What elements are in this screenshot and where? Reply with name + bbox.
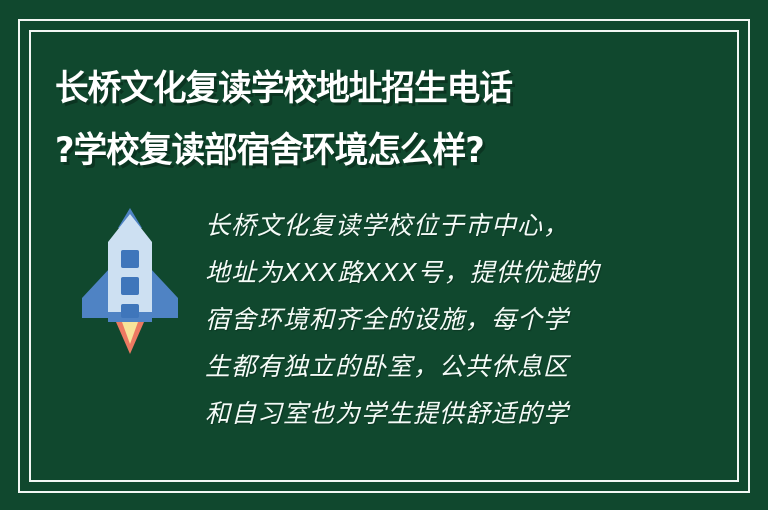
content-row: 长桥文化复读学校位于市中心， 地址为XXX路XXX号，提供优越的 宿舍环境和齐全…: [55, 198, 718, 437]
title-line-2: ?学校复读部宿舍环境怎么样?: [55, 120, 689, 182]
illustration-container: [55, 198, 205, 356]
body-line: 生都有独立的卧室，公共休息区: [205, 343, 718, 390]
body-paragraph: 长桥文化复读学校位于市中心， 地址为XXX路XXX号，提供优越的 宿舍环境和齐全…: [205, 198, 718, 437]
body-line: 宿舍环境和齐全的设施，每个学: [205, 296, 718, 343]
rocket-icon: [78, 206, 182, 356]
title-line-1: 长桥文化复读学校地址招生电话: [55, 58, 689, 120]
body-line: 和自习室也为学生提供舒适的学: [205, 390, 718, 437]
poster-canvas: 长桥文化复读学校地址招生电话 ?学校复读部宿舍环境怎么样?: [0, 0, 768, 510]
page-title: 长桥文化复读学校地址招生电话 ?学校复读部宿舍环境怎么样?: [55, 58, 715, 182]
body-line: 地址为XXX路XXX号，提供优越的: [205, 249, 718, 296]
body-line: 长桥文化复读学校位于市中心，: [205, 202, 718, 249]
